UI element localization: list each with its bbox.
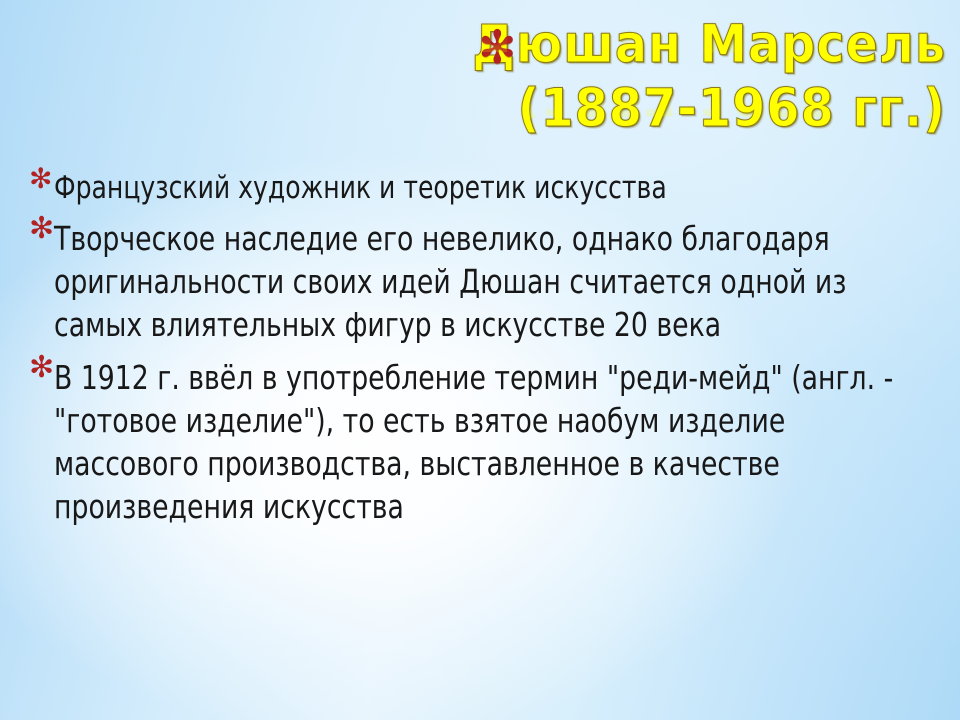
bullet-item-1-text: Французский художник и теоретик искусств… <box>54 168 937 208</box>
bullet-item-2-text: Творческое наследие его невелико, однако… <box>54 218 937 347</box>
slide-title: ✻ Дюшан Марсель Дюшан Марсель (1887-1968… <box>430 18 946 146</box>
bullet-item-3: ✻ В 1912 г. ввёл в употребление термин "… <box>26 357 938 529</box>
bullet-asterisk-icon: ✻ <box>29 353 54 383</box>
bullet-item-2: ✻ Творческое наследие его невелико, одна… <box>26 218 938 347</box>
slide-canvas: ✻ Дюшан Марсель Дюшан Марсель (1887-1968… <box>0 0 960 720</box>
bullet-item-1: ✻ Французский художник и теоретик искусс… <box>26 168 938 208</box>
bullet-asterisk-icon: ✻ <box>29 214 54 244</box>
bullet-item-3-text: В 1912 г. ввёл в употребление термин "ре… <box>54 357 937 529</box>
bullet-asterisk-icon: ✻ <box>29 165 52 193</box>
bullet-list: ✻ Французский художник и теоретик искусс… <box>26 168 938 535</box>
title-line-2-row: (1887-1968 гг.) (1887-1968 гг.) <box>430 82 946 146</box>
title-asterisk-icon: ✻ <box>478 24 517 70</box>
title-line-2: (1887-1968 гг.) <box>430 82 946 136</box>
title-line-1-row: ✻ Дюшан Марсель Дюшан Марсель <box>430 18 946 82</box>
